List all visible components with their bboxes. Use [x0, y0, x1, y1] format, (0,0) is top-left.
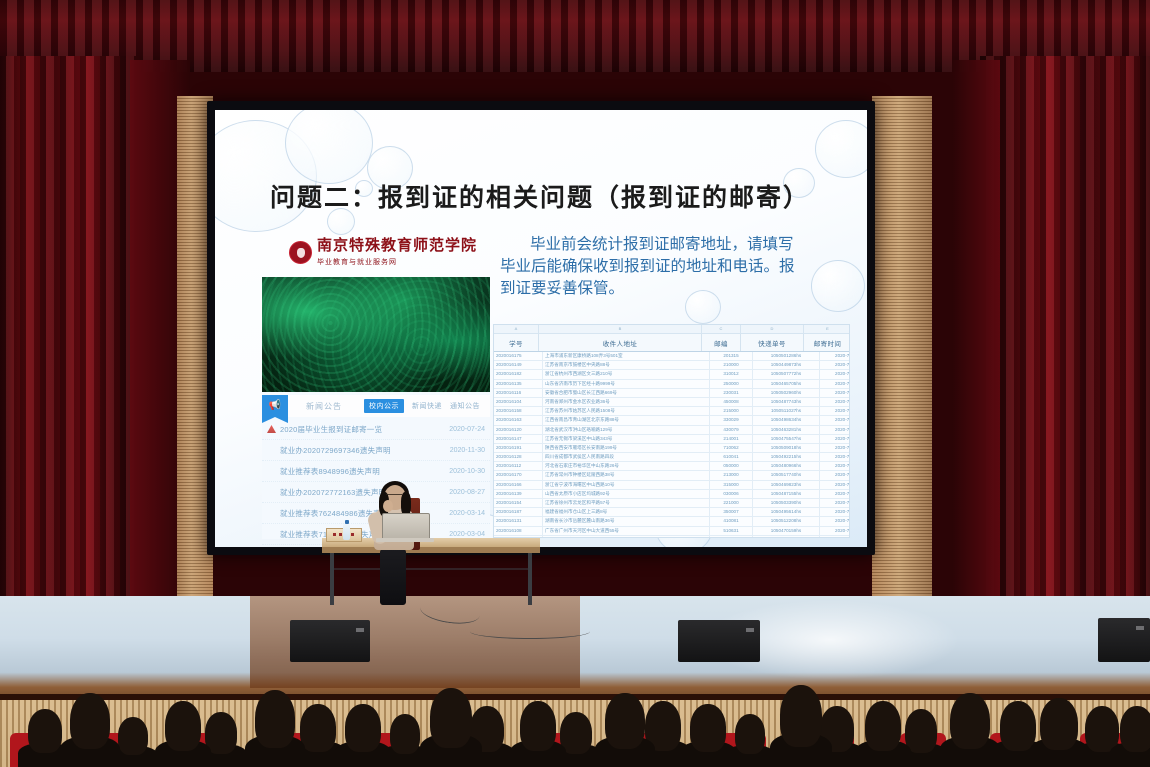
audience-member-head	[255, 690, 295, 748]
table-row[interactable]: 2020016182浙江省杭州市西湖区文三路210号31001210505077…	[494, 370, 849, 379]
table-cell: 221000	[710, 499, 753, 507]
laptop-base	[376, 538, 434, 542]
auditorium-scene: 问题二：报到证的相关问题（报到证的邮寄） 南京特殊教育师范学院 毕业教育与就业服…	[0, 0, 1150, 767]
table-cell: 2020-7-21	[820, 471, 850, 479]
presentation-slide: 问题二：报到证的相关问题（报到证的邮寄） 南京特殊教育师范学院 毕业教育与就业服…	[215, 110, 867, 547]
table-cell: 2020-7-21	[820, 508, 850, 516]
table-cell: 1050495614hs	[753, 508, 820, 516]
table-cell: 1050469823hs	[753, 481, 820, 489]
table-cell: 湖南省长沙市岳麓区麓山南路36号	[543, 517, 710, 525]
list-bullet-icon	[267, 509, 276, 517]
table-cell: 1050511027hs	[753, 407, 820, 415]
table-cell: 210000	[710, 361, 753, 369]
table-cell: 江西省南昌市青山湖区北京东路88号	[543, 416, 710, 424]
table-cell: 2020016182	[494, 370, 543, 378]
audience-member-head	[520, 701, 556, 751]
table-row[interactable]: 2020016163江西省南昌市青山湖区北京东路88号3300291050498…	[494, 416, 849, 425]
table-cell: 江苏省常州市钟楼区延陵西路38号	[543, 471, 710, 479]
water-bottle	[343, 524, 350, 540]
table-cell: 江苏省无锡市梁溪区中山路343号	[543, 435, 710, 443]
hot-flame-icon	[267, 425, 276, 433]
table-row[interactable]: 2020016175上海市浦东新区康桥路108弄3号501室2013151050…	[494, 352, 849, 361]
table-cell: 310012	[710, 370, 753, 378]
table-cell: 330029	[710, 416, 753, 424]
institution-logo: 南京特殊教育师范学院 毕业教育与就业服务网	[289, 239, 477, 267]
audience-member-head	[70, 693, 110, 749]
column-letter[interactable]: B	[539, 325, 702, 333]
table-row[interactable]: 2020016104河南省郑州市金水区农业路36号450008105048774…	[494, 398, 849, 407]
table-cell: 1050516630hs	[753, 536, 820, 538]
table-cell: 430079	[710, 426, 753, 434]
table-cell: 2020016139	[494, 490, 543, 498]
table-cell: 1050509018hs	[753, 444, 820, 452]
table-cell: 2020-7-21	[820, 481, 850, 489]
list-item-date: 2020-03-04	[449, 531, 485, 538]
table-row[interactable]: 2020016120湖北省武汉市洪山区珞喻路129号43007910504632…	[494, 426, 849, 435]
table-row[interactable]: 2020016147江苏省无锡市梁溪区中山路343号21400110504755…	[494, 435, 849, 444]
table-cell: 浙江省杭州市西湖区文三路210号	[543, 370, 710, 378]
table-cell: 215000	[710, 407, 753, 415]
table-cell: 226019	[710, 536, 753, 538]
stage-monitor-center	[678, 620, 760, 662]
bubble-decoration	[811, 260, 865, 312]
table-cell: 江苏省南京市鼓楼区中央路88号	[543, 361, 710, 369]
table-row[interactable]: 2020016128四川省成都市武侯区人民南路四段610041105049221…	[494, 453, 849, 462]
bubble-decoration	[815, 120, 867, 178]
table-cell: 2020016147	[494, 435, 543, 443]
table-cell: 1050487155hs	[753, 490, 820, 498]
audience-member-head	[28, 709, 62, 753]
column-letter[interactable]: D	[741, 325, 804, 333]
table-cell: 2020-7-21	[820, 380, 850, 388]
table-cell: 2020-7-21	[820, 426, 850, 434]
website-tabbar: 📢 新闻公告 校内公示 新闻快递 通知公告	[262, 395, 490, 417]
table-cell: 050000	[710, 462, 753, 470]
tab-campus-notice[interactable]: 校内公示	[364, 399, 404, 413]
table-cell: 1050512208hs	[753, 517, 820, 525]
table-cell: 1050517740hs	[753, 471, 820, 479]
table-row[interactable]: 2020016158江苏省苏州市姑苏区人民路1508号2150001050511…	[494, 407, 849, 416]
table-cell: 湖北省武汉市洪山区珞喻路129号	[543, 426, 710, 434]
table-cell: 2020016154	[494, 499, 543, 507]
spreadsheet-header-row: 学号收件人地址邮编快递单号邮寄时间	[494, 334, 849, 352]
column-header[interactable]: 学号	[494, 334, 539, 351]
table-cell: 陕西省西安市雁塔区长安南路199号	[543, 444, 710, 452]
audience-member-head	[905, 709, 937, 753]
table-cell: 213000	[710, 471, 753, 479]
table-cell: 2020-7-21	[820, 536, 850, 538]
list-item-title: 2020届毕业生报到证邮寄一览	[280, 424, 449, 435]
table-cell: 2020016149	[494, 361, 543, 369]
curtain-fold-right	[952, 60, 1000, 680]
table-cell: 2020-7-21	[820, 370, 850, 378]
table-row[interactable]: 2020016154江苏省徐州市云龙区和平路57号221000105050339…	[494, 499, 849, 508]
list-bullet-icon	[267, 467, 276, 475]
table-cell: 2020-7-21	[820, 517, 850, 525]
audience-member-head	[690, 704, 726, 752]
table-cell: 2020-7-21	[820, 361, 850, 369]
list-item-title: 就业办2020729697346遗失声明	[280, 445, 450, 456]
stage-monitor-left	[290, 620, 370, 662]
table-cell: 350007	[710, 508, 753, 516]
column-letter[interactable]: A	[494, 325, 539, 333]
table-cell: 2020016158	[494, 407, 543, 415]
list-item[interactable]: 就业办2020729697346遗失声明2020-11-30	[262, 440, 490, 461]
table-cell: 山东省济南市历下区经十路9999号	[543, 380, 710, 388]
table-cell: 410081	[710, 517, 753, 525]
table-cell: 1050487743hs	[753, 398, 820, 406]
table-cell: 2020016166	[494, 481, 543, 489]
list-bullet-icon	[267, 446, 276, 454]
audience-member-head	[865, 701, 901, 751]
table-cell: 1050501286hs	[753, 352, 820, 360]
table-row[interactable]: 2020016131湖南省长沙市岳麓区麓山南路36号41008110505122…	[494, 517, 849, 526]
table-cell: 2020016191	[494, 444, 543, 452]
table-cell: 1050507772hs	[753, 370, 820, 378]
table-cell: 2020016170	[494, 471, 543, 479]
list-bullet-icon	[267, 488, 276, 496]
website-section-title: 新闻公告	[306, 401, 342, 412]
table-cell: 2020016120	[494, 426, 543, 434]
table-cell: 1050502960hs	[753, 389, 820, 397]
list-bullet-icon	[267, 530, 276, 538]
list-item-date: 2020-07-24	[449, 426, 485, 433]
table-row[interactable]: 2020016108广东省广州市天河区中山大道西55号5106311050470…	[494, 527, 849, 536]
table-cell: 1050475547hs	[753, 435, 820, 443]
audience-member-head	[1000, 701, 1036, 751]
table-cell: 2020-7-21	[820, 490, 850, 498]
table-cell: 福建省福州市仓山区上三路8号	[543, 508, 710, 516]
table-cell: 250000	[710, 380, 753, 388]
table-cell: 2020016131	[494, 517, 543, 525]
column-header[interactable]: 收件人地址	[539, 334, 702, 351]
table-cell: 201315	[710, 352, 753, 360]
table-cell: 上海市浦东新区康桥路108弄3号501室	[543, 352, 710, 360]
slide-title: 问题二：报到证的相关问题（报到证的邮寄）	[270, 178, 830, 214]
table-cell: 1050449873hs	[753, 361, 820, 369]
column-header[interactable]: 邮编	[702, 334, 741, 351]
column-header[interactable]: 邮寄时间	[804, 334, 850, 351]
table-row[interactable]: 2020016178江苏省南通市崇川区啬园路9号2260191050516630…	[494, 536, 849, 538]
table-cell: 2020016187	[494, 508, 543, 516]
table-cell: 河北省石家庄市裕华区中山东路26号	[543, 462, 710, 470]
table-cell: 1050463281hs	[753, 426, 820, 434]
table-cell: 2020016104	[494, 398, 543, 406]
table-cell: 230031	[710, 389, 753, 397]
table-row[interactable]: 2020016149江苏省南京市鼓楼区中央路88号210000105044987…	[494, 361, 849, 370]
floor-cable	[470, 624, 590, 639]
list-item[interactable]: 就业办202072772163遗失声明2020-08-27	[262, 482, 490, 503]
audience-member-head	[430, 688, 472, 748]
stage-monitor-right	[1098, 618, 1150, 662]
audience-member-head	[950, 693, 990, 749]
table-cell: 2020016116	[494, 389, 543, 397]
list-item-title: 就业推荐表8948996遗失声明	[280, 466, 449, 477]
table-cell: 2020-7-21	[820, 499, 850, 507]
institution-subtitle: 毕业教育与就业服务网	[317, 257, 477, 267]
table-cell: 2020-7-21	[820, 389, 850, 397]
list-item-title: 就业办202072772163遗失声明	[280, 487, 449, 498]
table-cell: 1050498634hs	[753, 416, 820, 424]
column-header[interactable]: 快递单号	[741, 334, 804, 351]
table-cell: 030006	[710, 490, 753, 498]
table-cell: 2020-7-21	[820, 527, 850, 535]
megaphone-icon: 📢	[262, 395, 288, 417]
audience-member-head	[390, 714, 420, 754]
table-cell: 1050492215hs	[753, 453, 820, 461]
column-letter[interactable]: E	[804, 325, 850, 333]
table-cell: 浙江省宁波市海曙区中山西路10号	[543, 481, 710, 489]
table-cell: 2020016108	[494, 527, 543, 535]
table-row[interactable]: 2020016139山西省太原市小店区坞城路92号030006105048715…	[494, 490, 849, 499]
table-cell: 214001	[710, 435, 753, 443]
university-crest-icon	[289, 241, 312, 264]
audience-member-head	[165, 701, 201, 751]
institution-name: 南京特殊教育师范学院	[317, 239, 477, 255]
table-cell: 2020-7-21	[820, 462, 850, 470]
table-cell: 2020016128	[494, 453, 543, 461]
laptop-screen	[382, 513, 430, 541]
audience-member-head	[1040, 698, 1078, 750]
table-cell: 2020-7-21	[820, 416, 850, 424]
audience-member-head	[300, 704, 336, 752]
table-cell: 2020-7-21	[820, 352, 850, 360]
table-cell: 610041	[710, 453, 753, 461]
table-cell: 315000	[710, 481, 753, 489]
table-row[interactable]: 2020016116安徽省合肥市蜀山区长江西路669号2300311050502…	[494, 389, 849, 398]
table-cell: 2020-7-21	[820, 435, 850, 443]
spreadsheet-column-letters: ABCDE	[494, 325, 849, 334]
presenter-legs	[380, 549, 406, 605]
slide-body-text: 毕业前会统计报到证邮寄地址，请填写毕业后能确保收到报到证的地址和电话。报到证要妥…	[500, 234, 805, 300]
audience-member-head	[118, 717, 148, 755]
table-row[interactable]: 2020016135山东省济南市历下区经十路9999号2500001050465…	[494, 380, 849, 389]
table-row[interactable]: 2020016191陕西省西安市雁塔区长安南路199号7100621050509…	[494, 444, 849, 453]
website-screenshot: 📢 新闻公告 校内公示 新闻快递 通知公告 2020届毕业生报到证邮寄一览202…	[262, 277, 490, 539]
table-cell: 广东省广州市天河区中山大道西55号	[543, 527, 710, 535]
audience-member-head	[735, 714, 765, 754]
table-row[interactable]: 2020016170江苏省常州市钟楼区延陵西路38号21300010505177…	[494, 471, 849, 480]
table-cell: 450008	[710, 398, 753, 406]
campus-photo	[262, 277, 490, 392]
table-cell: 510631	[710, 527, 753, 535]
table-cell: 山西省太原市小店区坞城路92号	[543, 490, 710, 498]
bubble-decoration	[285, 110, 373, 184]
table-cell: 2020016163	[494, 416, 543, 424]
table-skirt	[322, 547, 540, 553]
table-cell: 安徽省合肥市蜀山区长江西路669号	[543, 389, 710, 397]
mailing-spreadsheet: ABCDE 学号收件人地址邮编快递单号邮寄时间 2020016175上海市浦东新…	[493, 324, 850, 538]
list-item-date: 2020-11-30	[450, 447, 485, 454]
table-leg-left	[330, 553, 334, 605]
audience-member-head	[345, 704, 381, 752]
table-row[interactable]: 2020016187福建省福州市仓山区上三路8号3500071050495614…	[494, 508, 849, 517]
table-cell: 2020-7-21	[820, 444, 850, 452]
table-cell: 2020016175	[494, 352, 543, 360]
spreadsheet-body: 2020016175上海市浦东新区康桥路108弄3号501室2013151050…	[494, 352, 849, 538]
audience-member-head	[1120, 706, 1150, 752]
table-cell: 1050470159hs	[753, 527, 820, 535]
table-cell: 河南省郑州市金水区农业路36号	[543, 398, 710, 406]
audience-member-head	[780, 685, 822, 747]
table-cell: 2020016135	[494, 380, 543, 388]
table-cell: 江苏省南通市崇川区啬园路9号	[543, 536, 710, 538]
table-row[interactable]: 2020016112河北省石家庄市裕华区中山东路26号0500001050480…	[494, 462, 849, 471]
wall-panel-right	[872, 96, 932, 636]
list-item-date: 2020-03-14	[449, 510, 485, 517]
table-row[interactable]: 2020016166浙江省宁波市海曙区中山西路10号31500010504698…	[494, 481, 849, 490]
list-item-date: 2020-08-27	[449, 489, 485, 496]
table-cell: 江苏省苏州市姑苏区人民路1508号	[543, 407, 710, 415]
tab-announcement[interactable]: 通知公告	[450, 401, 480, 411]
table-cell: 江苏省徐州市云龙区和平路57号	[543, 499, 710, 507]
table-leg-right	[528, 553, 532, 605]
table-cell: 2020-7-21	[820, 398, 850, 406]
audience-member-head	[605, 693, 645, 749]
table-cell: 2020016112	[494, 462, 543, 470]
presenter-glasses	[386, 494, 402, 499]
list-item-date: 2020-10-30	[449, 468, 485, 475]
list-item[interactable]: 2020届毕业生报到证邮寄一览2020-07-24	[262, 419, 490, 440]
column-letter[interactable]: C	[702, 325, 741, 333]
table-cell: 1050480966hs	[753, 462, 820, 470]
table-brace	[334, 568, 530, 570]
presenter-hand	[383, 500, 393, 512]
table-cell: 1050465705hs	[753, 380, 820, 388]
table-cell: 四川省成都市武侯区人民南路四段	[543, 453, 710, 461]
list-item[interactable]: 就业推荐表8948996遗失声明2020-10-30	[262, 461, 490, 482]
table-cell: 2020-7-21	[820, 453, 850, 461]
table-cell: 2020-7-21	[820, 407, 850, 415]
table-cell: 710062	[710, 444, 753, 452]
tab-news-express[interactable]: 新闻快递	[412, 401, 442, 411]
table-cell: 1050503390hs	[753, 499, 820, 507]
